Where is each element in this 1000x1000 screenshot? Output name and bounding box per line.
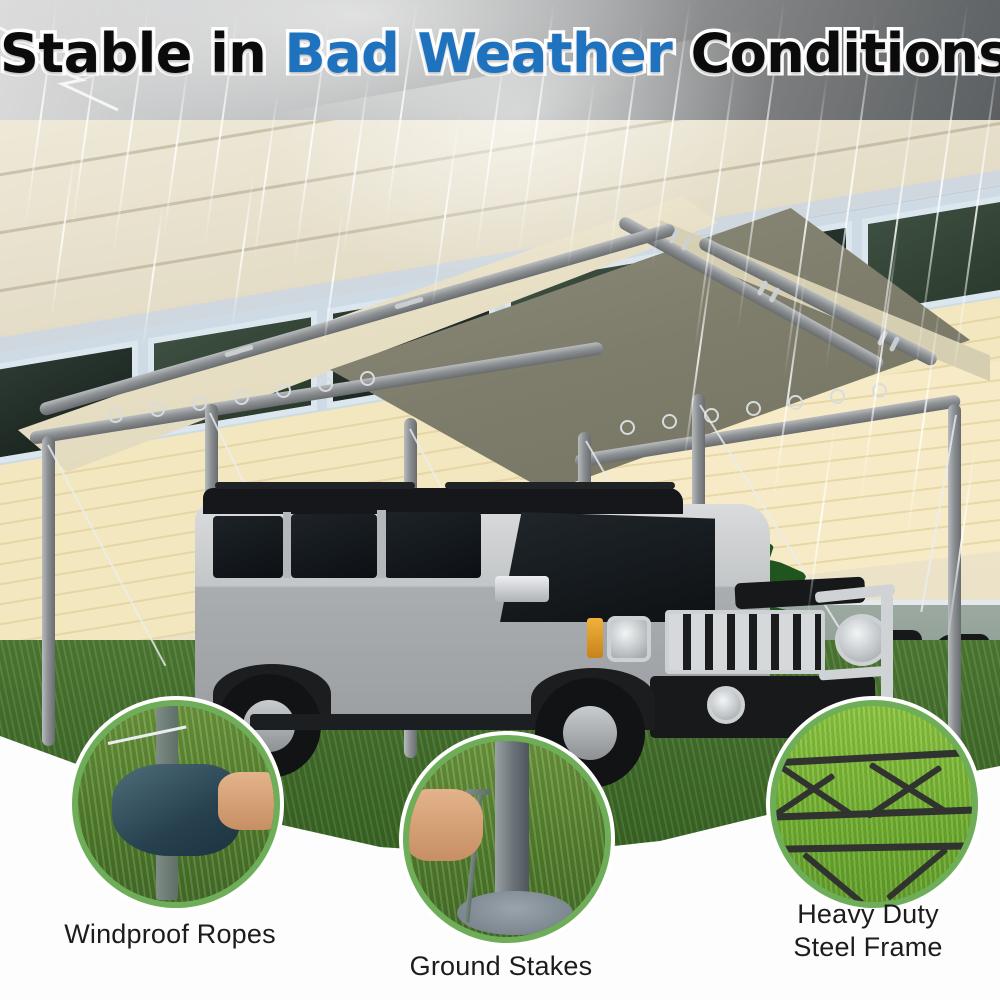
title-part-two: Conditions — [672, 22, 1000, 85]
running-board — [250, 714, 535, 730]
canopy-leg-pole — [495, 735, 529, 911]
page-title: Stable in Bad Weather Conditions — [0, 22, 1000, 85]
suv-windshield — [500, 512, 715, 622]
guy-rope — [47, 445, 166, 667]
callout-windproof-ropes[interactable] — [72, 700, 280, 908]
title-highlight: Bad Weather — [285, 22, 673, 85]
label-ground-stakes: Ground Stakes — [361, 950, 641, 983]
product-feature-image: Windproof Ropes Ground Stakes Heavy Duty… — [0, 0, 1000, 1000]
hand-fist — [405, 789, 483, 861]
callout-ground-stakes[interactable] — [403, 735, 611, 943]
fog-light — [707, 686, 745, 724]
roof-rack — [215, 482, 415, 489]
label-windproof-ropes: Windproof Ropes — [30, 918, 310, 951]
title-part-one: Stable in — [0, 22, 285, 85]
roof-rack — [445, 482, 675, 489]
callout-steel-frame[interactable] — [770, 700, 978, 908]
suv-front-door-window — [385, 512, 481, 578]
front-grille — [665, 610, 825, 674]
suv-rear-door-window — [291, 514, 377, 578]
suv-roof — [203, 488, 683, 514]
turn-signal — [587, 618, 603, 658]
label-steel-frame: Heavy Duty Steel Frame — [728, 898, 1000, 964]
headlight — [607, 616, 651, 662]
side-mirror — [495, 576, 549, 602]
pole-base-plate — [457, 891, 573, 935]
suv-rear-window — [213, 516, 283, 578]
hand-wrist — [218, 772, 280, 830]
frame-leg-far-left — [42, 436, 55, 746]
